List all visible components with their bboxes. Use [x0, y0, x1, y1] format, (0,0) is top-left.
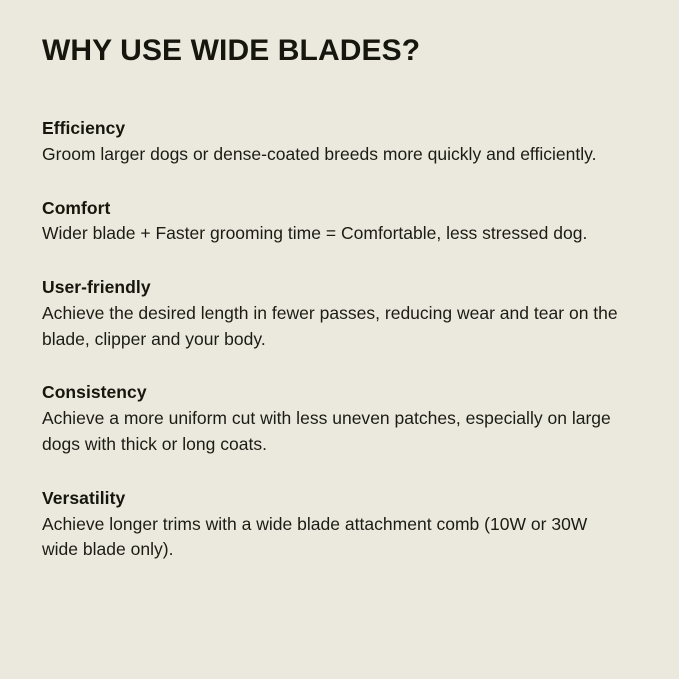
benefits-section-list: Efficiency Groom larger dogs or dense-co… — [42, 116, 637, 563]
benefit-section-comfort: Comfort Wider blade + Faster grooming ti… — [42, 196, 637, 248]
benefit-heading: Comfort — [42, 196, 637, 221]
benefit-section-user-friendly: User-friendly Achieve the desired length… — [42, 275, 637, 352]
benefit-section-efficiency: Efficiency Groom larger dogs or dense-co… — [42, 116, 637, 168]
benefit-body: Achieve longer trims with a wide blade a… — [42, 512, 622, 563]
benefit-section-consistency: Consistency Achieve a more uniform cut w… — [42, 380, 637, 457]
benefit-body: Groom larger dogs or dense-coated breeds… — [42, 142, 622, 168]
page-title: WHY USE WIDE BLADES? — [42, 34, 637, 67]
benefit-heading: Versatility — [42, 486, 637, 511]
benefit-body: Achieve the desired length in fewer pass… — [42, 301, 622, 352]
benefit-body: Achieve a more uniform cut with less une… — [42, 406, 622, 457]
benefit-heading: Efficiency — [42, 116, 637, 141]
benefit-heading: Consistency — [42, 380, 637, 405]
document-page: WHY USE WIDE BLADES? Efficiency Groom la… — [0, 0, 679, 679]
benefit-heading: User-friendly — [42, 275, 637, 300]
benefit-section-versatility: Versatility Achieve longer trims with a … — [42, 486, 637, 563]
benefit-body: Wider blade + Faster grooming time = Com… — [42, 221, 622, 247]
